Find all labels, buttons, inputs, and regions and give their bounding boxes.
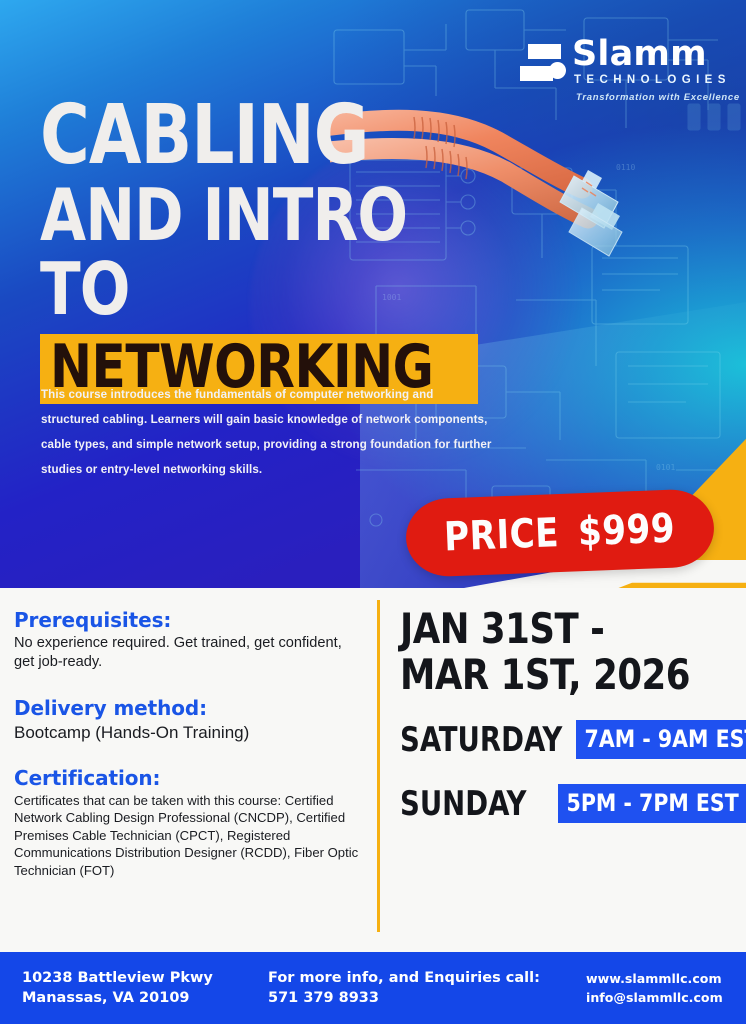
svg-text:0110: 0110	[616, 163, 635, 172]
session-row-saturday: SATURDAY 7AM - 9AM EST	[400, 720, 735, 759]
logo-subtitle: TECHNOLOGIES	[574, 74, 731, 86]
footer-links: www.slammllc.com info@slammllc.com	[586, 969, 723, 1007]
session-row-sunday: SUNDAY 5PM - 7PM EST	[400, 784, 735, 823]
course-date-line-1: JAN 31ST -	[400, 606, 715, 652]
svg-text:0101: 0101	[656, 463, 675, 472]
course-details-column: Prerequisites: No experience required. G…	[14, 608, 364, 879]
footer-enquiries-label: For more info, and Enquiries call:	[268, 968, 540, 988]
price-label: PRICE	[444, 510, 561, 560]
logo-tagline: Transformation with Excellence	[576, 92, 740, 103]
course-date-line-2: MAR 1ST, 2026	[400, 652, 715, 698]
footer-enquiries: For more info, and Enquiries call: 571 3…	[268, 968, 540, 1008]
title-line-2: AND INTRO TO	[40, 178, 472, 326]
session-day-saturday: SATURDAY	[400, 722, 558, 758]
slamm-logo-mark-icon	[520, 42, 566, 88]
title-line-1: CABLING	[40, 98, 472, 174]
price-amount: $999	[578, 506, 677, 556]
footer-phone-number[interactable]: 571 379 8933	[268, 988, 540, 1008]
course-description: This course introduces the fundamentals …	[41, 382, 493, 482]
prerequisites-text: No experience required. Get trained, get…	[14, 634, 364, 672]
company-logo: Slamm TECHNOLOGIES Transformation with E…	[520, 38, 720, 118]
flyer-title: CABLING AND INTRO TO NETWORKING	[40, 98, 510, 404]
details-section: Prerequisites: No experience required. G…	[0, 588, 746, 952]
footer-website-link[interactable]: www.slammllc.com	[586, 969, 723, 988]
footer-contact-bar: 10238 Battleview Pkwy Manassas, VA 20109…	[0, 952, 746, 1024]
footer-address-line-2: Manassas, VA 20109	[22, 988, 213, 1008]
session-time-sunday: 5PM - 7PM EST	[558, 784, 746, 823]
certification-heading: Certification:	[14, 766, 364, 790]
delivery-method-heading: Delivery method:	[14, 696, 364, 720]
prerequisites-heading: Prerequisites:	[14, 608, 364, 632]
certification-text: Certificates that can be taken with this…	[14, 792, 364, 879]
session-time-saturday: 7AM - 9AM EST	[576, 720, 746, 759]
footer-address-line-1: 10238 Battleview Pkwy	[22, 968, 213, 988]
course-flyer: 010011101 01101001 01011100	[0, 0, 746, 1024]
footer-email-link[interactable]: info@slammllc.com	[586, 988, 723, 1007]
logo-company-name: Slamm	[572, 36, 707, 72]
footer-address: 10238 Battleview Pkwy Manassas, VA 20109	[22, 968, 213, 1008]
session-day-sunday: SUNDAY	[400, 786, 526, 822]
price-badge: PRICE$999	[405, 488, 716, 578]
vertical-divider	[377, 600, 380, 932]
delivery-method-text: Bootcamp (Hands-On Training)	[14, 722, 364, 744]
schedule-column: JAN 31ST - MAR 1ST, 2026 SATURDAY 7AM - …	[400, 606, 735, 823]
